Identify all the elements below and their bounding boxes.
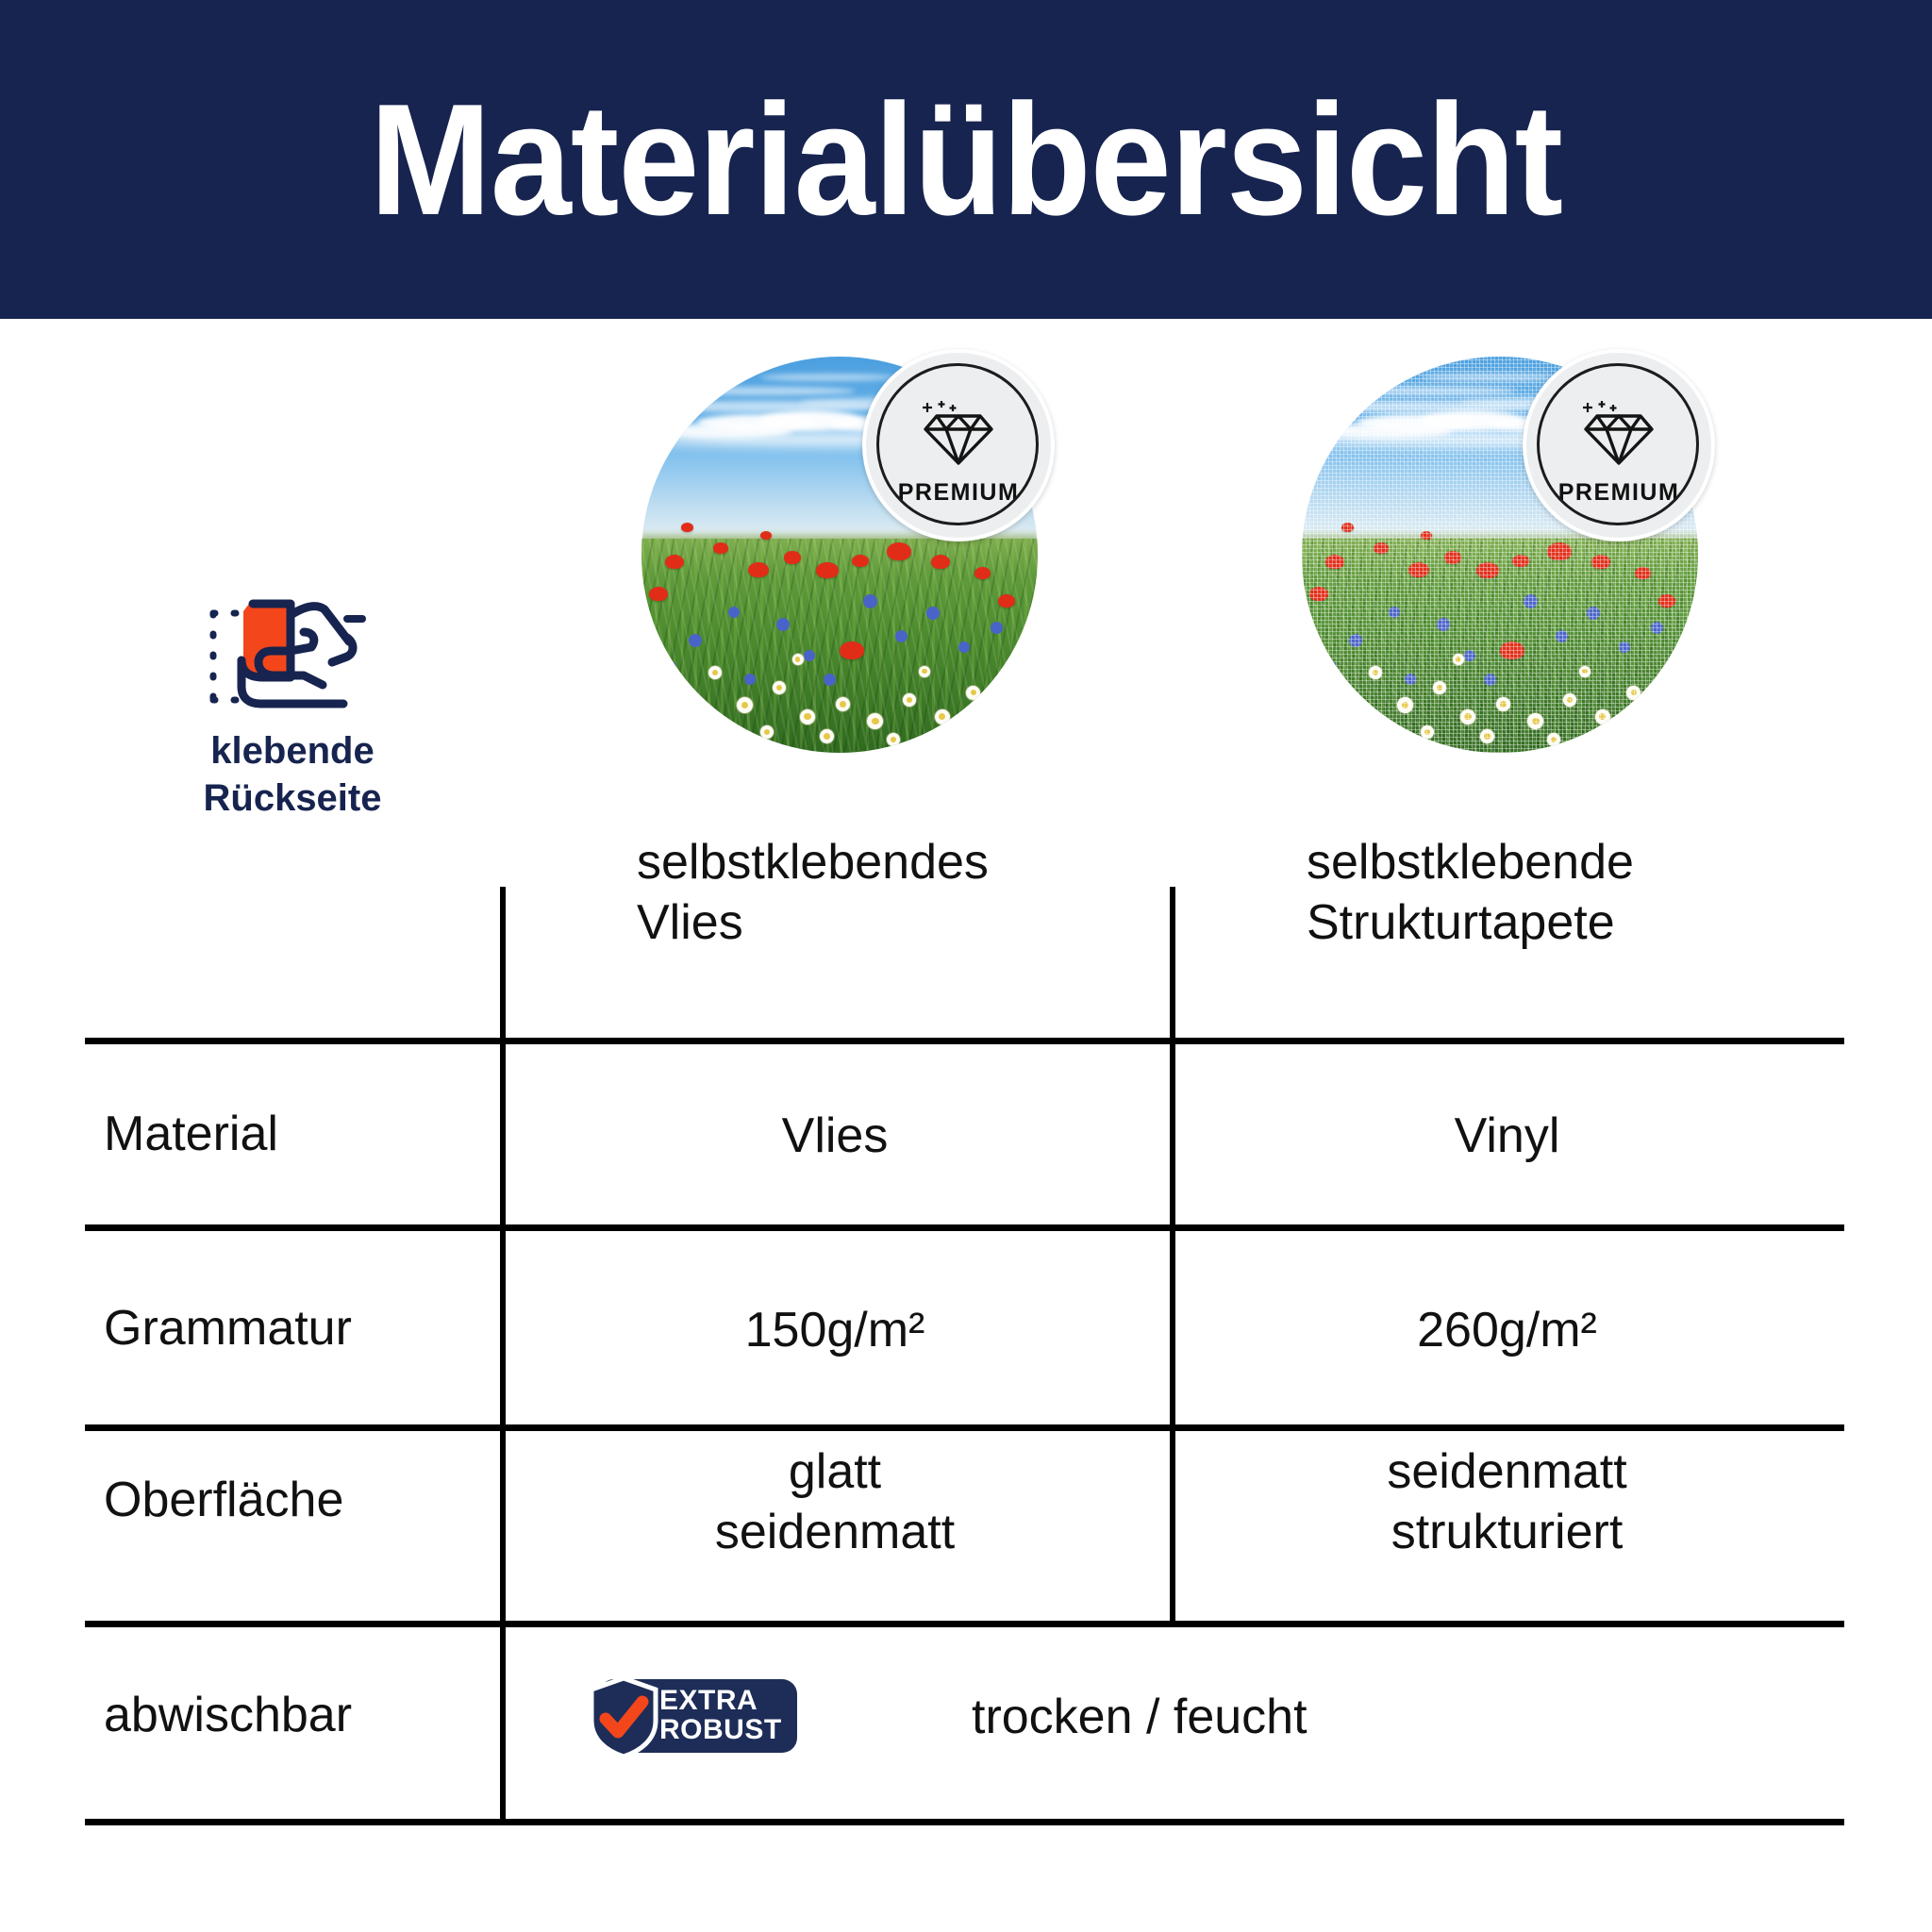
cell-abwischbar-value: trocken / feucht — [972, 1687, 1821, 1747]
material-comparison-table: klebende Rückseite selbstklebendes Vlies… — [85, 811, 1844, 1825]
column-header-strukturtapete: selbstklebende Strukturtapete — [1307, 832, 1835, 954]
row-divider — [85, 1224, 1844, 1231]
row-divider — [85, 1038, 1844, 1044]
sticky-backing-icon — [200, 703, 385, 719]
column-header-vlies-line1: selbstklebendes — [637, 832, 1146, 892]
row-divider — [85, 1424, 1844, 1431]
column-header-vlies-line2: Vlies — [637, 892, 1146, 953]
cell-oberflaeche-vinyl-line2: strukturiert — [1170, 1502, 1844, 1562]
backing-info: klebende Rückseite — [85, 594, 500, 822]
extra-robust-badge: EXTRA ROBUST — [599, 1679, 797, 1753]
premium-badge: PREMIUM — [862, 349, 1055, 541]
page-title: Materialübersicht — [370, 80, 1562, 239]
cell-grammatur-vinyl: 260g/m² — [1170, 1300, 1844, 1360]
row-label-material: Material — [104, 1106, 481, 1163]
backing-caption-line2: Rückseite — [85, 774, 500, 822]
cell-grammatur-vlies: 150g/m² — [500, 1300, 1170, 1360]
cell-oberflaeche-vlies-line2: seidenmatt — [500, 1502, 1170, 1562]
cell-material-vinyl: Vinyl — [1170, 1106, 1844, 1166]
premium-badge: PREMIUM — [1523, 349, 1715, 541]
extra-robust-badge-text: EXTRA ROBUST — [659, 1687, 782, 1745]
sample-vinyl[interactable]: PREMIUM — [1302, 357, 1698, 753]
badge-ring — [876, 363, 1039, 525]
badge-ring — [1537, 363, 1699, 525]
cell-material-vlies: Vlies — [500, 1106, 1170, 1166]
sample-vlies[interactable]: PREMIUM — [641, 357, 1038, 753]
page-header: Materialübersicht — [0, 0, 1932, 319]
cell-oberflaeche-vinyl: seidenmatt strukturiert — [1170, 1441, 1844, 1563]
extra-robust-line2: ROBUST — [659, 1716, 782, 1745]
column-header-vlies: selbstklebendes Vlies — [637, 832, 1146, 954]
table-bottom-border — [85, 1819, 1844, 1825]
column-header-strukturtapete-line2: Strukturtapete — [1307, 892, 1835, 953]
cell-oberflaeche-vinyl-line1: seidenmatt — [1170, 1441, 1844, 1502]
extra-robust-line1: EXTRA — [659, 1687, 782, 1716]
cell-oberflaeche-vlies-line1: glatt — [500, 1441, 1170, 1502]
cell-oberflaeche-vlies: glatt seidenmatt — [500, 1441, 1170, 1563]
row-label-grammatur: Grammatur — [104, 1300, 481, 1357]
column-header-strukturtapete-line1: selbstklebende — [1307, 832, 1835, 892]
row-divider — [85, 1621, 1844, 1627]
shield-check-icon — [584, 1674, 663, 1765]
row-label-oberflaeche: Oberfläche — [104, 1472, 481, 1529]
row-label-abwischbar: abwischbar — [104, 1687, 481, 1744]
backing-caption-line1: klebende — [85, 727, 500, 774]
